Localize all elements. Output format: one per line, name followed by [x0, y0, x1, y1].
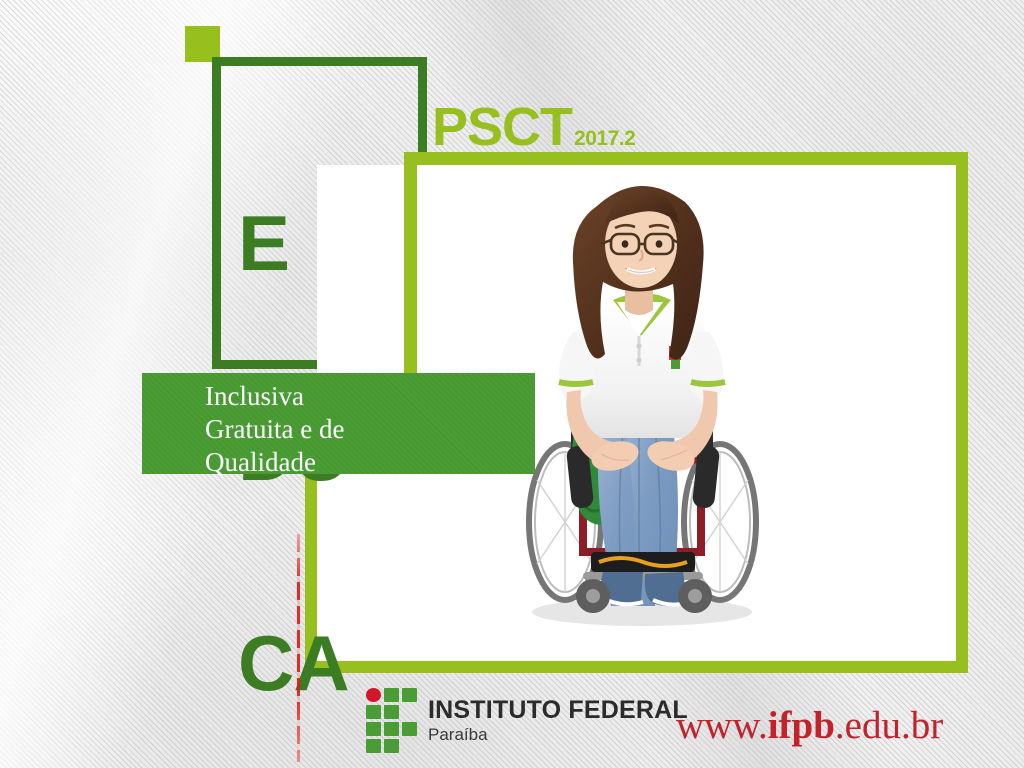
logo-cell: [366, 722, 381, 736]
logo-cell: [366, 739, 381, 753]
poster-canvas: E DU CA ÇÃO PSCT 2017.2 Inclusiva Gratui…: [0, 0, 1024, 768]
url-brand: ifpb: [768, 704, 835, 747]
logo-cell-red-dot: [366, 688, 381, 702]
exam-year: 2017.2: [574, 127, 635, 151]
logo-cell: [384, 688, 399, 702]
frame-lime-right-bar: [956, 152, 968, 673]
red-dashed-accent-line-fade: [297, 534, 300, 762]
logo-cell: [402, 688, 417, 702]
frame-dark-green-top-bar: [212, 57, 427, 66]
tagline-line-2: Gratuita e de: [205, 413, 535, 446]
logo-cell: [402, 722, 417, 736]
logo-cell: [384, 739, 399, 753]
tagline-line-3: Qualidade: [205, 446, 535, 479]
logo-cell-empty: [402, 739, 417, 753]
website-url[interactable]: www.ifpb.edu.br: [676, 706, 943, 746]
headline-line-1: E: [238, 208, 658, 278]
tagline-text: Inclusiva Gratuita e de Qualidade: [205, 380, 535, 479]
exam-name: PSCT: [432, 100, 572, 154]
tagline-line-1: Inclusiva: [205, 380, 535, 413]
exam-label: PSCT 2017.2: [432, 100, 635, 154]
ifpb-logo-wordmark: INSTITUTO FEDERAL Paraíba: [428, 698, 688, 743]
logo-cell: [366, 705, 381, 719]
logo-cell: [384, 722, 399, 736]
logo-cell-empty: [402, 705, 417, 719]
ifpb-logo-icon: [366, 688, 417, 753]
logo-cell: [384, 705, 399, 719]
url-suffix: .edu.br: [835, 704, 943, 747]
logo-title: INSTITUTO FEDERAL: [428, 698, 688, 723]
logo-subtitle: Paraíba: [428, 726, 688, 743]
url-prefix: www.: [676, 704, 768, 747]
ifpb-logo: INSTITUTO FEDERAL Paraíba: [366, 688, 688, 753]
